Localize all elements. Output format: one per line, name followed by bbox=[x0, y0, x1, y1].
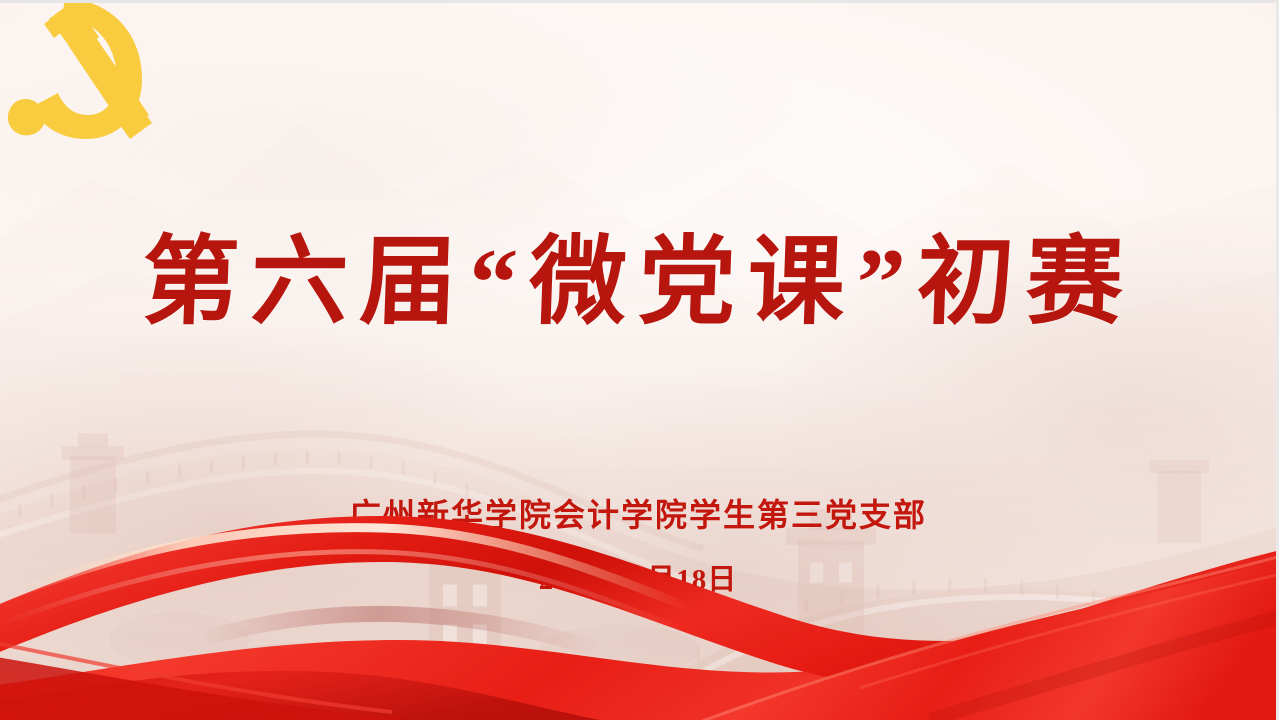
event-date: 2024年6月18日 bbox=[539, 556, 738, 598]
title-slide: 第六届“微党课”初赛 广州新华学院会计学院学生第三党支部 2024年6月18日 bbox=[0, 0, 1279, 720]
organization-subtitle: 广州新华学院会计学院学生第三党支部 bbox=[349, 490, 927, 536]
date-container: 2024年6月18日 bbox=[0, 556, 1276, 598]
background-color-wash bbox=[0, 3, 1276, 720]
subtitle-container: 广州新华学院会计学院学生第三党支部 bbox=[0, 490, 1276, 536]
cpc-emblem-icon bbox=[2, 0, 152, 149]
